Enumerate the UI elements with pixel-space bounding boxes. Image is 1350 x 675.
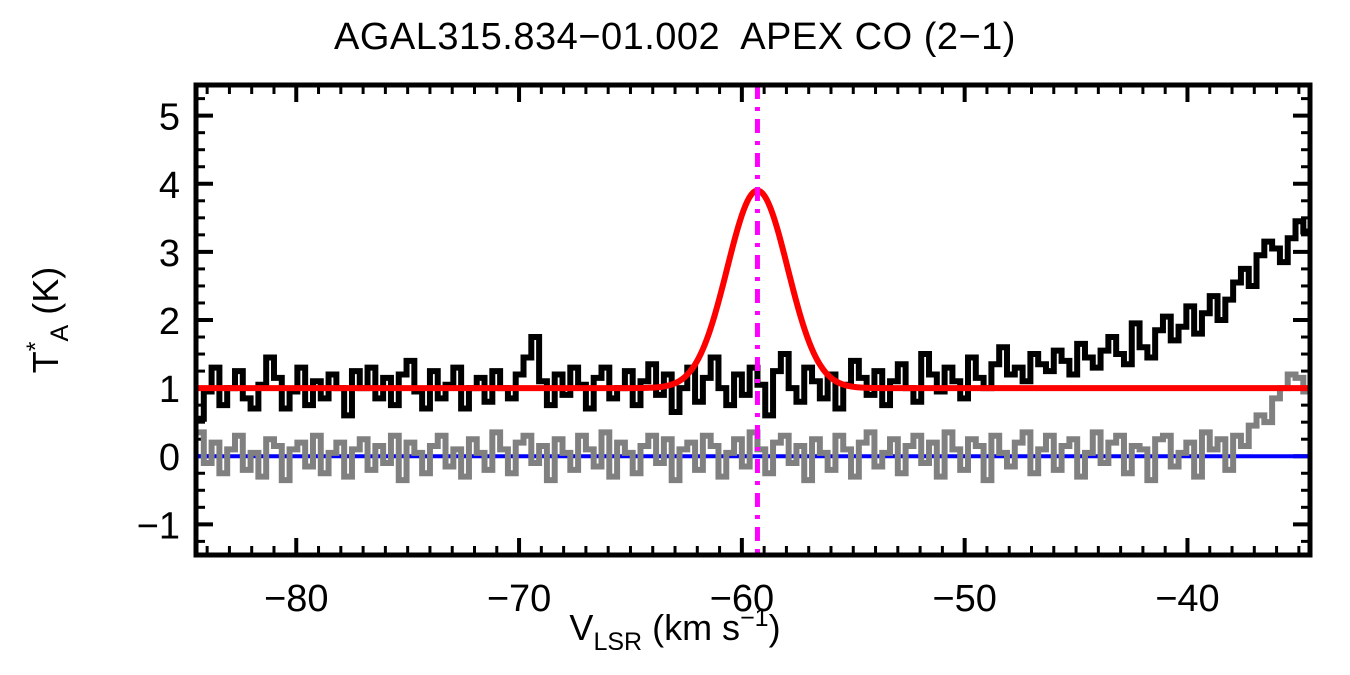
spectrum-chart: −80−70−60−50−40 −1012345 VLSR (km s−1) T… [0,0,1350,675]
y-tick-label: −1 [137,505,180,547]
gaussian-fit-curve [196,191,1310,388]
y-tick-labels: −1012345 [137,97,180,548]
minor-tick-marks [196,85,1310,555]
y-tick-label: 3 [159,233,180,275]
svg-text:VLSR (km s−1): VLSR (km s−1) [569,604,780,656]
x-tick-label: −70 [487,578,551,620]
x-axis-title: VLSR (km s−1) [569,604,780,656]
plot-frame [196,85,1310,555]
figure-root: AGAL315.834−01.002 APEX CO (2−1) −80−70−… [0,0,1350,675]
y-tick-label: 2 [159,301,180,343]
x-tick-label: −40 [1155,578,1219,620]
x-tick-label: −50 [932,578,996,620]
y-tick-label: 4 [159,165,180,207]
y-tick-label: 0 [159,437,180,479]
y-axis-title: T*A (K) [22,267,74,373]
major-tick-marks [196,85,1310,555]
svg-text:T*A (K): T*A (K) [22,267,74,373]
y-tick-label: 5 [159,97,180,139]
plot-canvas: −80−70−60−50−40 −1012345 VLSR (km s−1) T… [0,0,1350,675]
x-tick-label: −80 [264,578,328,620]
y-tick-label: 1 [159,369,180,411]
